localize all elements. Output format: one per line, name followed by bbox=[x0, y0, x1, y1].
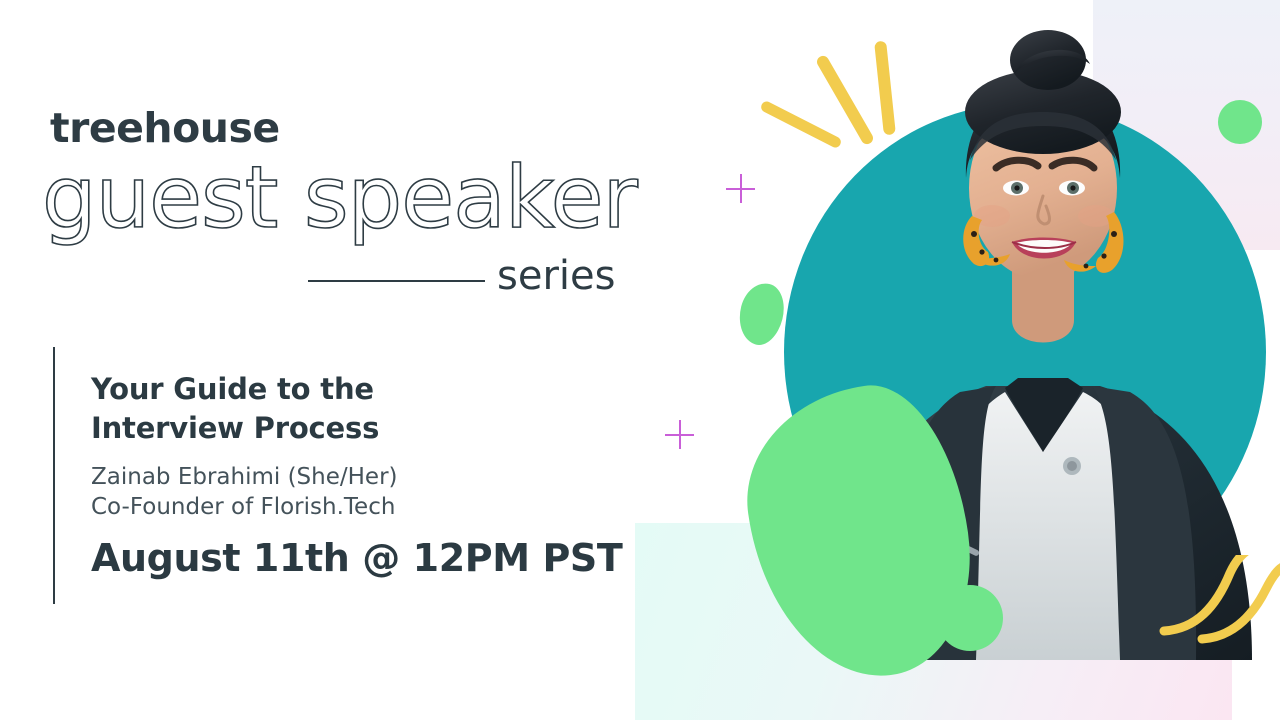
accent-bar bbox=[53, 347, 55, 604]
brand-wordmark: treehouse bbox=[50, 108, 280, 149]
yellow-curved-strokes-icon bbox=[1150, 555, 1280, 685]
green-blob-large bbox=[733, 374, 986, 691]
yellow-stroke-icon bbox=[759, 100, 842, 150]
talk-title: Your Guide to the Interview Process bbox=[91, 370, 511, 447]
series-divider bbox=[308, 280, 485, 282]
teal-circle bbox=[784, 103, 1266, 601]
yellow-stroke-icon bbox=[874, 41, 896, 136]
series-label: series bbox=[497, 256, 615, 296]
promo-slide: treehouse guest speaker series Your Guid… bbox=[0, 0, 1280, 720]
yellow-stroke-icon bbox=[815, 54, 875, 147]
lavender-panel bbox=[1093, 0, 1280, 250]
magenta-plus-icon bbox=[726, 174, 755, 203]
mint-pink-gradient-panel bbox=[635, 523, 1232, 720]
green-circle-right bbox=[1218, 100, 1262, 144]
text-column: treehouse guest speaker series Your Guid… bbox=[0, 0, 660, 720]
speaker-role: Co-Founder of Florish.Tech bbox=[91, 492, 395, 523]
speaker-name: Zainab Ebrahimi (She/Her) bbox=[91, 462, 398, 493]
speaker-photo bbox=[800, 20, 1270, 660]
page-title: guest speaker bbox=[42, 155, 637, 241]
green-blob-small bbox=[733, 279, 790, 350]
event-datetime: August 11th @ 12PM PST bbox=[91, 536, 622, 582]
magenta-plus-icon bbox=[665, 420, 694, 449]
green-circle-bottom bbox=[937, 585, 1003, 651]
